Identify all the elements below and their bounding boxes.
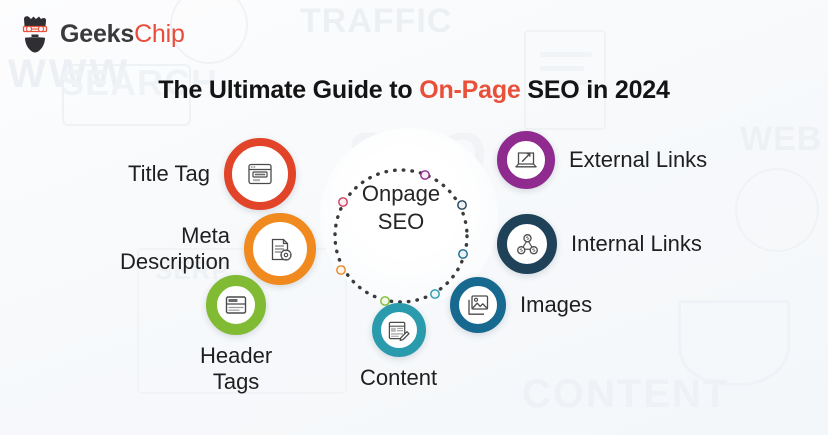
content-badge[interactable] — [372, 303, 426, 357]
title-after: SEO in 2024 — [521, 76, 670, 104]
node-external-links[interactable]: External Links — [497, 131, 707, 189]
header-tags-label: Header Tags — [200, 343, 272, 395]
brand-name: GeeksChip — [60, 22, 185, 47]
images-badge[interactable] — [450, 277, 506, 333]
title-tag-badge[interactable] — [224, 138, 296, 210]
hub-label-line1: Onpage — [330, 180, 472, 208]
browser-title-bar-icon — [247, 161, 273, 187]
title-before: The Ultimate Guide to — [158, 76, 419, 104]
images-label: Images — [520, 292, 592, 318]
line-doodle — [540, 66, 584, 71]
node-internal-links[interactable]: Internal Links — [497, 214, 702, 274]
laptop-link-icon — [514, 148, 538, 172]
bearded-face-glasses-icon — [18, 15, 52, 53]
title-tag-label: Title Tag — [128, 161, 210, 187]
external-links-badge[interactable] — [497, 131, 555, 189]
page-title: The Ultimate Guide to On-Page SEO in 202… — [0, 76, 828, 105]
external-links-label: External Links — [569, 147, 707, 173]
document-gear-icon — [268, 237, 293, 262]
title-accent: On-Page — [419, 76, 520, 104]
page-pencil-icon — [387, 319, 410, 342]
photo-stack-icon — [466, 293, 490, 317]
network-nodes-icon — [515, 232, 540, 257]
watermark-content: CONTENT — [522, 372, 729, 417]
brand-logo[interactable]: GeeksChip — [18, 15, 185, 53]
hub-label: Onpage SEO — [330, 180, 472, 236]
meta-description-label: Meta Description — [120, 223, 230, 275]
hub-label-line2: SEO — [330, 208, 472, 236]
window-header-icon — [224, 293, 248, 317]
node-title-tag[interactable]: Title Tag — [128, 138, 296, 210]
header-tags-badge[interactable] — [206, 275, 266, 335]
internal-links-badge[interactable] — [497, 214, 557, 274]
node-header-tags[interactable]: Header Tags — [200, 275, 272, 395]
funnel-doodle-icon — [678, 300, 790, 386]
brand-name-part2: Chip — [134, 20, 185, 48]
globe-doodle-icon — [735, 168, 819, 252]
node-images[interactable]: Images — [450, 277, 592, 333]
watermark-traffic: TRAFFIC — [300, 2, 452, 41]
node-content[interactable]: Content — [360, 303, 437, 391]
infographic-canvas: TRAFFIC WWW SEARCH SEO SERP CONTENT WEB … — [0, 0, 828, 435]
internal-links-label: Internal Links — [571, 231, 702, 257]
content-label: Content — [360, 365, 437, 391]
line-doodle — [540, 52, 592, 57]
brand-name-part1: Geeks — [60, 20, 134, 48]
watermark-web: WEB — [740, 120, 822, 159]
